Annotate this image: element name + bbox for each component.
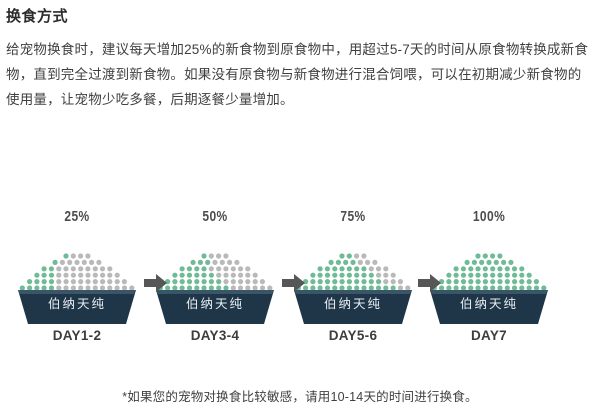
kibble-mound-day1-2 bbox=[12, 232, 142, 290]
kibble-mound-day3-4 bbox=[150, 232, 280, 290]
page-title: 换食方式 bbox=[6, 6, 68, 28]
kibble-mound-day7 bbox=[424, 232, 554, 290]
kibble-dots-icon bbox=[150, 232, 280, 290]
kibble-dots-icon bbox=[424, 232, 554, 290]
kibble-dots-icon bbox=[288, 232, 418, 290]
stage-percent-label: 100% bbox=[437, 208, 541, 225]
stage-day3-4: 50% 伯纳天纯 DAY3-4 bbox=[150, 200, 280, 360]
kibble-dots-icon bbox=[12, 232, 142, 290]
stage-day7: 100% 伯纳天纯 DAY7 bbox=[424, 200, 554, 360]
arrow-right-icon bbox=[417, 272, 443, 294]
stage-day1-2: 25% 伯纳天纯 DAY1-2 bbox=[12, 200, 142, 360]
footnote-text: *如果您的宠物对换食比较敏感，请用10-14天的时间进行换食。 bbox=[0, 386, 600, 405]
food-bowl-icon bbox=[12, 288, 142, 328]
stage-percent-label: 75% bbox=[301, 208, 405, 225]
stage-day-label: DAY5-6 bbox=[288, 328, 418, 343]
stage-percent-label: 50% bbox=[163, 208, 267, 225]
stage-day5-6: 75% 伯纳天纯 DAY5-6 bbox=[288, 200, 418, 360]
stage-percent-label: 25% bbox=[25, 208, 129, 225]
arrow-right-icon bbox=[281, 272, 307, 294]
food-bowl-icon bbox=[150, 288, 280, 328]
food-bowl-icon bbox=[424, 288, 554, 328]
stage-day-label: DAY1-2 bbox=[12, 328, 142, 343]
arrow-right-icon bbox=[143, 272, 169, 294]
intro-paragraph: 给宠物换食时，建议每天增加25%的新食物到原食物中，用超过5-7天的时间从原食物… bbox=[6, 37, 590, 112]
stage-day-label: DAY7 bbox=[424, 328, 554, 343]
stage-day-label: DAY3-4 bbox=[150, 328, 280, 343]
food-bowl-icon bbox=[288, 288, 418, 328]
kibble-mound-day5-6 bbox=[288, 232, 418, 290]
